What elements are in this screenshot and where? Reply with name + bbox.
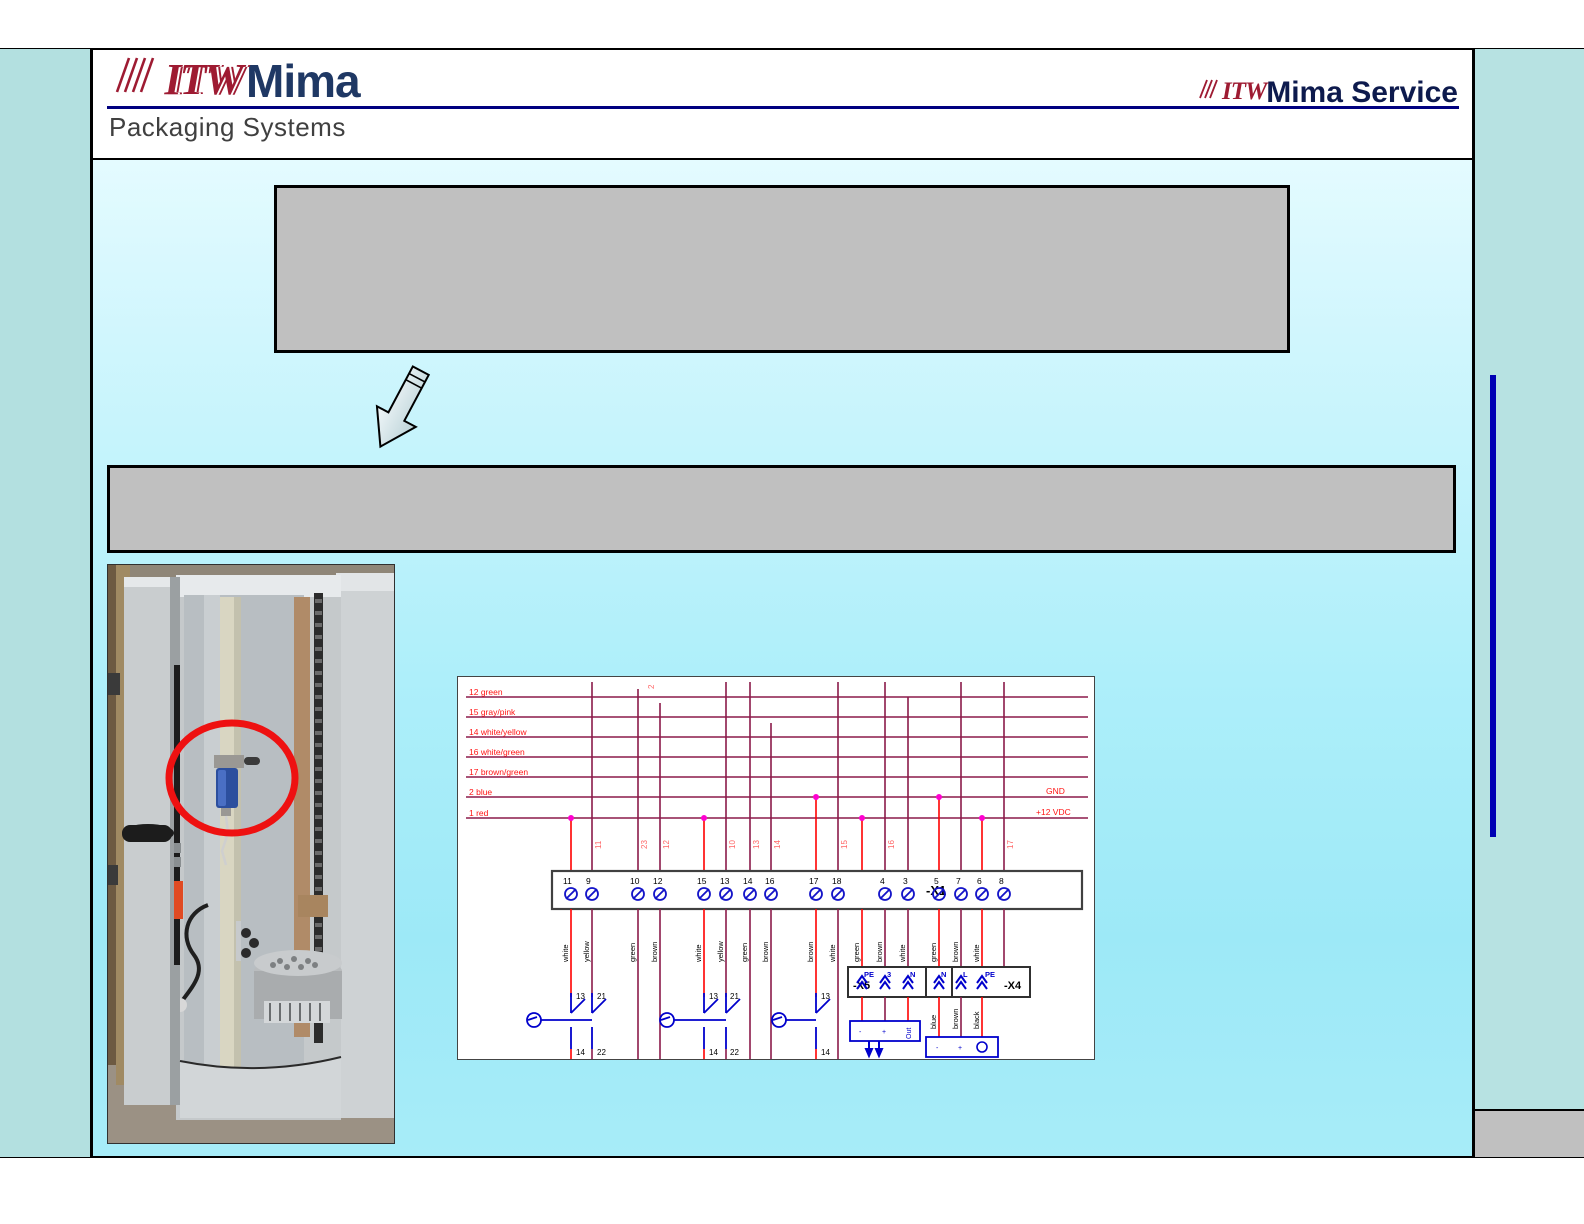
right-label-gnd: GND xyxy=(1046,786,1065,796)
terminal-block-x4-label: -X4 xyxy=(1004,980,1022,992)
slide-root: ITW Mima Packaging Systems ITWMima Servi… xyxy=(0,0,1584,1224)
slide-header: ITW Mima Packaging Systems ITWMima Servi… xyxy=(91,48,1474,160)
contact-num-3: 22 xyxy=(597,1048,606,1057)
service-itw-text: ITW xyxy=(1222,78,1266,106)
wire-color-9: white xyxy=(828,944,837,963)
wire-color-0: white xyxy=(561,944,570,963)
wire-color-6: green xyxy=(740,943,749,962)
terminal-num-5: 13 xyxy=(720,876,730,886)
wire-number-23: 23 xyxy=(640,840,649,849)
bottom-content-box xyxy=(107,465,1456,553)
wire-number-17: 17 xyxy=(1006,840,1015,849)
x5-wire-color-2: white xyxy=(898,944,907,963)
x5-wire-color-1: brown xyxy=(875,942,884,962)
left-label-6: 1 red xyxy=(469,808,489,818)
wire-color-2: green xyxy=(628,943,637,962)
contact-num-6: 14 xyxy=(709,1048,718,1057)
terminal-num-2: 10 xyxy=(630,876,640,886)
wire-number-15: 15 xyxy=(840,840,849,849)
diagonal-arrow-icon xyxy=(362,356,442,461)
x4-wire-color-0: green xyxy=(929,943,938,962)
contact-num-9: 14 xyxy=(821,1048,830,1057)
terminal-num-9: 18 xyxy=(832,876,842,886)
terminal-num-4: 15 xyxy=(697,876,707,886)
wire-number-14: 14 xyxy=(773,840,782,849)
contact-num-7: 22 xyxy=(730,1048,739,1057)
left-label-2: 14 white/yellow xyxy=(469,727,528,737)
opto-pin-1: + xyxy=(882,1029,886,1036)
left-side-panel xyxy=(0,48,91,1158)
logo-slashes-icon xyxy=(107,52,159,103)
x5-terminal-0: PE xyxy=(864,970,874,979)
wire-number-12: 12 xyxy=(662,840,671,849)
terminal-numr-1: 3 xyxy=(903,876,908,886)
service-title-text: Mima Service xyxy=(1266,76,1458,110)
rotation-wire-color-1: brown xyxy=(951,1009,960,1029)
terminal-numr-4: 6 xyxy=(977,876,982,886)
terminal-num-0: 11 xyxy=(563,876,572,886)
terminal-numr-2: 5 xyxy=(934,876,939,886)
right-label-vdc: +12 VDC xyxy=(1036,807,1071,817)
wire-number-10: 10 xyxy=(728,840,737,849)
wire-number-top-2: 2 xyxy=(647,684,656,689)
wire-number-16: 16 xyxy=(887,840,896,849)
machine-photo xyxy=(107,564,395,1144)
terminal-numr-0: 4 xyxy=(880,876,885,886)
header-subtitle: Packaging Systems xyxy=(109,112,346,143)
terminal-num-7: 16 xyxy=(765,876,775,886)
terminal-numr-5: 8 xyxy=(999,876,1004,886)
left-label-5: 2 blue xyxy=(469,787,492,797)
terminal-num-6: 14 xyxy=(743,876,753,886)
x5-terminal-1: 3 xyxy=(887,970,891,979)
left-label-4: 17 brown/green xyxy=(469,767,528,777)
rotation-wire-color-0: blue xyxy=(929,1015,938,1029)
logo-itw-text: ITW xyxy=(164,54,241,105)
terminal-num-3: 12 xyxy=(653,876,663,886)
rotation-wire-color-2: black xyxy=(972,1011,981,1029)
left-label-3: 16 white/green xyxy=(469,747,525,757)
x5-terminal-2: N xyxy=(910,970,915,979)
contact-num-2: 14 xyxy=(576,1048,585,1057)
x4-wire-color-1: brown xyxy=(951,942,960,962)
right-panel-gray-footer xyxy=(1474,1110,1584,1158)
service-slashes-icon xyxy=(1196,76,1222,107)
wiring-diagram: 12 green 15 gray/pink 14 white/yellow 16… xyxy=(457,676,1095,1060)
contact-num-5: 21 xyxy=(730,992,739,1001)
x5-wire-color-0: green xyxy=(852,943,861,962)
wire-color-3: brown xyxy=(650,942,659,962)
terminal-num-8: 17 xyxy=(809,876,819,886)
terminal-num-1: 9 xyxy=(586,876,591,886)
x4-terminal-2: PE xyxy=(985,970,995,979)
wire-color-4: white xyxy=(694,944,703,963)
x4-terminal-1: L xyxy=(963,970,968,979)
logo-mima-text: Mima xyxy=(246,54,360,108)
wire-number-13: 13 xyxy=(752,840,761,849)
x4-wire-color-2: white xyxy=(972,944,981,963)
top-content-box xyxy=(274,185,1290,353)
header-service-mark: ITWMima Service xyxy=(1196,76,1458,110)
terminal-numr-3: 7 xyxy=(956,876,961,886)
wire-color-8: brown xyxy=(806,942,815,962)
left-label-0: 12 green xyxy=(469,687,503,697)
rotation-pin-1: + xyxy=(958,1045,962,1052)
wire-color-1: yellow xyxy=(582,941,591,962)
itw-mima-logo: ITW Mima xyxy=(107,54,360,108)
opto-pin-2: Out xyxy=(906,1028,913,1039)
wire-number-11: 11 xyxy=(594,840,603,849)
left-label-1: 15 gray/pink xyxy=(469,707,516,717)
slide-content-area: 12 green 15 gray/pink 14 white/yellow 16… xyxy=(91,160,1474,1158)
wire-color-7: brown xyxy=(761,942,770,962)
wire-color-5: yellow xyxy=(716,941,725,962)
right-panel-blue-line xyxy=(1490,375,1496,837)
x4-terminal-0: N xyxy=(941,970,946,979)
right-side-panel xyxy=(1474,48,1584,1110)
